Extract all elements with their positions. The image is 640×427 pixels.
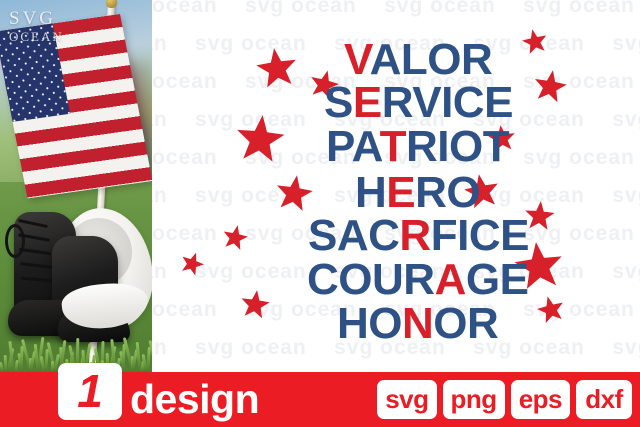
- wordmark-letter: R: [382, 78, 412, 127]
- wordmark-letter: V: [412, 78, 441, 127]
- wordmark-letter: S: [324, 78, 353, 127]
- logo-line-two: OCEAN: [9, 30, 69, 43]
- format-badge-png: png: [443, 380, 505, 419]
- wordmark-letter: O: [433, 299, 467, 348]
- wordmark-line-service: SERVICE: [324, 81, 513, 125]
- wordmark-letter: O: [449, 122, 483, 171]
- boot-lace-loop: [5, 224, 25, 258]
- acrostic-highlight-letter: A: [435, 255, 466, 304]
- wordmark-line-sacrfice: SACRFICE: [308, 214, 529, 258]
- format-badge-dxf: dxf: [576, 380, 632, 419]
- wordmark-line-valor: VALOR: [344, 38, 492, 82]
- wordmark-letter: T: [483, 122, 509, 171]
- acrostic-highlight-letter: R: [399, 211, 430, 260]
- format-badge-svg: svg: [377, 380, 436, 419]
- wordmark-letter: O: [368, 299, 402, 348]
- wordmark-letter: C: [307, 255, 338, 304]
- wordmark-letter: O: [446, 168, 480, 217]
- design-count-label: design: [130, 372, 259, 427]
- wordmark-line-honor: HONOR: [337, 302, 498, 346]
- wordmark-letter: A: [370, 35, 401, 84]
- wordmark-letter: S: [308, 211, 337, 260]
- acrostic-highlight-letter: T: [380, 122, 406, 171]
- wordmark-letter: U: [372, 255, 403, 304]
- wordmark-letter: I: [441, 78, 453, 127]
- wordmark-letter: O: [338, 255, 372, 304]
- acrostic-highlight-letter: E: [353, 78, 382, 127]
- wordmark-letter: O: [427, 35, 461, 84]
- veteran-acrostic-wordmark: VALORSERVICEPATRIOTHEROSACRFICECOURAGEHO…: [152, 0, 640, 372]
- acrostic-highlight-letter: N: [402, 299, 433, 348]
- wordmark-letter: R: [403, 255, 434, 304]
- svg-ocean-logo: SVG OCEAN: [9, 9, 69, 51]
- product-mockup-canvas: SVG OCEAN svg ocean svg ocean svg ocean …: [0, 0, 640, 427]
- flagpole-finial-icon: [106, 0, 117, 8]
- wordmark-letter: E: [500, 211, 529, 260]
- format-badge-eps: eps: [511, 380, 570, 419]
- wordmark-letter: A: [337, 211, 368, 260]
- design-count-badge: 1: [58, 363, 122, 420]
- wordmark-letter: G: [466, 255, 500, 304]
- wordmark-letter: E: [500, 255, 529, 304]
- wordmark-letter: C: [469, 211, 500, 260]
- wordmark-letter: R: [406, 122, 437, 171]
- wordmark-letter: P: [326, 122, 352, 171]
- wordmark-letter: H: [337, 299, 368, 348]
- wordmark-letter: R: [467, 299, 498, 348]
- logo-line-one: SVG: [9, 9, 69, 28]
- wordmark-letter: H: [355, 168, 386, 217]
- wordmark-letter: E: [484, 78, 513, 127]
- wordmark-letter: F: [431, 211, 457, 260]
- acrostic-highlight-letter: V: [344, 35, 370, 84]
- file-format-badges: svgpngepsdxf: [377, 372, 632, 427]
- wordmark-letter: I: [457, 211, 469, 260]
- wordmark-letter: C: [368, 211, 399, 260]
- veterans-photo: SVG OCEAN: [0, 0, 152, 372]
- acrostic-highlight-letter: E: [386, 168, 415, 217]
- wordmark-letter: I: [437, 122, 449, 171]
- wordmark-letter: A: [352, 122, 380, 171]
- wordmark-line-hero: HERO: [355, 171, 480, 215]
- wordmark-letter: R: [461, 35, 492, 84]
- wordmark-letter: L: [401, 35, 427, 84]
- design-count-value: 1: [77, 368, 103, 414]
- wordmark-line-courage: COURAGE: [307, 258, 528, 302]
- wordmark-letter: C: [453, 78, 484, 127]
- wordmark-letter: R: [415, 168, 446, 217]
- wordmark-line-patriot: PATRIOT: [326, 125, 509, 169]
